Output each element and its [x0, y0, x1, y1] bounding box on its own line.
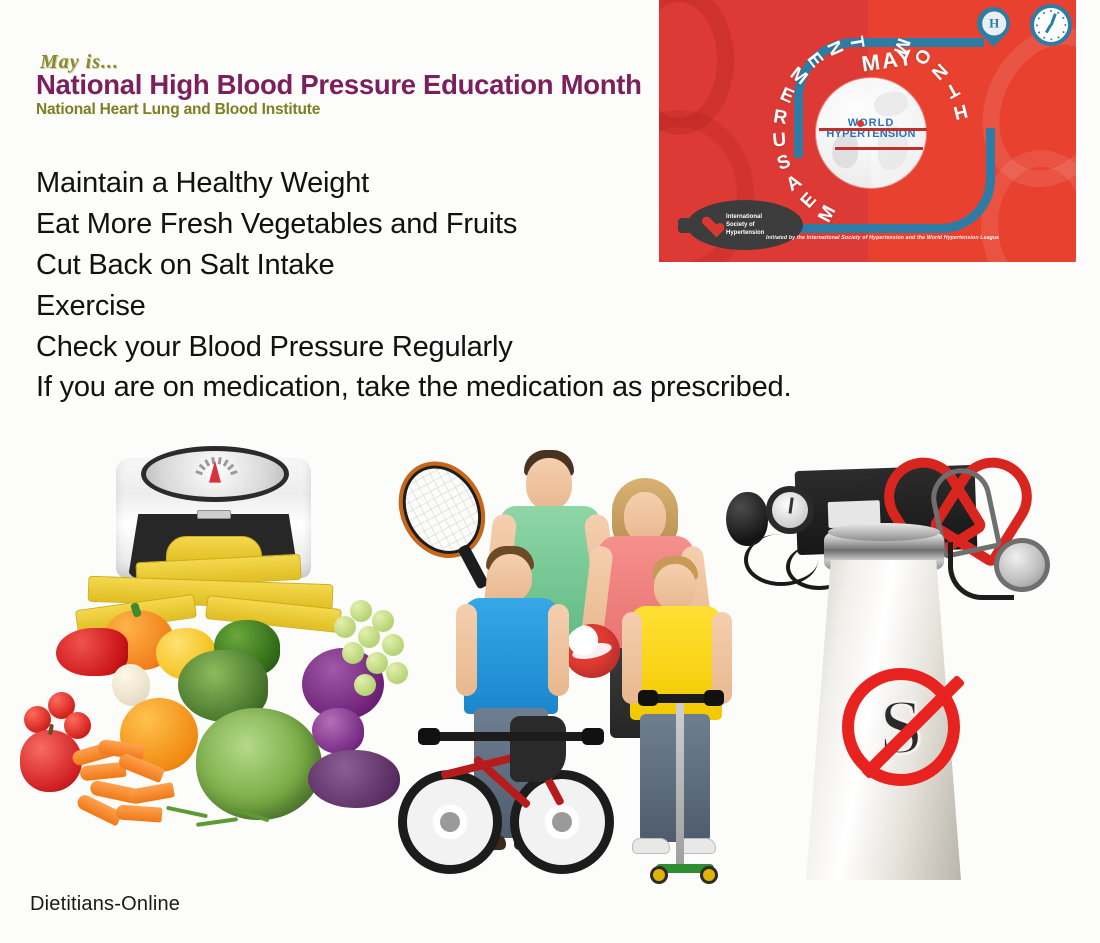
ish-line-1: International	[726, 213, 764, 221]
grape	[354, 674, 376, 696]
dial-tick	[230, 470, 238, 475]
clock-tick	[1056, 11, 1059, 14]
dial-tick	[195, 470, 203, 475]
arc-letter: U	[772, 129, 788, 152]
red-white-ball	[564, 624, 620, 678]
clock-tick	[1042, 35, 1045, 38]
bike-wheel	[510, 770, 614, 874]
face	[624, 492, 666, 542]
may-measurement-month-banner: H WORLD HYPERTENSION MAY MEASUREMENT MON…	[659, 0, 1076, 262]
scale-dial	[141, 446, 289, 502]
heart-icon	[701, 216, 720, 235]
dial-tick	[227, 464, 234, 471]
clock-minute-hand	[1045, 24, 1052, 33]
banner-tagline: Initiated by the International Society o…	[766, 235, 1066, 241]
ekg-line	[835, 147, 923, 150]
logo-dot-icon	[857, 120, 864, 127]
carrot	[127, 782, 175, 805]
logo-line-2: HYPERTENSION	[816, 129, 926, 140]
bike-wheel	[398, 770, 502, 874]
photo-collage: S	[0, 430, 1100, 910]
ish-logo-badge: International Society of Hypertension	[687, 200, 803, 250]
scale-and-produce-photo	[16, 450, 416, 890]
ish-line-2: Society of	[726, 221, 764, 229]
active-family-photo	[398, 438, 738, 900]
tip-item: Exercise	[36, 286, 936, 327]
green-stems	[166, 806, 286, 836]
scooter-grip	[638, 690, 658, 706]
bike-grip	[582, 728, 604, 745]
ish-line-3: Hypertension	[726, 229, 764, 237]
dial-tick	[199, 464, 206, 471]
tip-item: If you are on medication, take the medic…	[36, 367, 936, 408]
ish-logo-text: International Society of Hypertension	[726, 213, 764, 237]
ekg-line	[819, 128, 927, 131]
hospital-pin-label: H	[982, 12, 1006, 36]
bike-seat	[510, 716, 566, 782]
arc-letter: R	[772, 106, 789, 130]
footer-credit: Dietitians-Online	[30, 893, 180, 916]
savoy-cabbage	[196, 708, 322, 820]
scooter-wheel	[700, 866, 718, 884]
scooter-stem	[676, 702, 684, 872]
clock-hour-hand	[1050, 13, 1056, 25]
clock-tick	[1056, 35, 1059, 38]
scooter-wheel	[650, 866, 668, 884]
tip-item: Check your Blood Pressure Regularly	[36, 327, 936, 368]
pressure-gauge	[766, 486, 814, 534]
salt-and-bp-photo: S	[720, 440, 1080, 905]
clock-tick	[1037, 16, 1040, 19]
arc-letter: S	[775, 151, 794, 176]
face	[654, 564, 696, 610]
clock-tick	[1036, 24, 1038, 26]
dial-tick	[223, 459, 229, 467]
clock-tick	[1050, 38, 1052, 40]
clock-tick	[1050, 10, 1052, 12]
clock-tick	[1064, 24, 1066, 26]
gauge-needle	[789, 497, 794, 513]
grape	[350, 600, 372, 622]
clock-icon	[1030, 4, 1072, 46]
scale-needle	[209, 461, 221, 483]
scale-window	[197, 510, 231, 519]
face	[488, 554, 532, 602]
bicycle	[406, 674, 656, 884]
tomato	[24, 706, 51, 733]
globe-graphic: WORLD HYPERTENSION	[816, 78, 926, 188]
no-salt-sign: S	[842, 668, 960, 786]
stem	[196, 817, 238, 827]
kick-scooter	[642, 686, 728, 886]
clock-tick	[1037, 30, 1040, 33]
grape	[366, 652, 388, 674]
clock-tick	[1061, 16, 1064, 19]
carrot	[116, 804, 163, 822]
bike-handlebar	[428, 732, 596, 741]
nhlbi-header: May is... National High Blood Pressure E…	[36, 52, 636, 119]
face	[526, 458, 572, 510]
bike-grip	[418, 728, 440, 745]
organization-name: National Heart Lung and Blood Institute	[36, 101, 636, 119]
grape	[342, 642, 364, 664]
grape	[358, 626, 380, 648]
clock-tick	[1061, 30, 1064, 33]
clock-tick	[1042, 11, 1045, 14]
page-title: National High Blood Pressure Education M…	[36, 71, 636, 100]
purple-onion	[312, 708, 364, 754]
grape	[334, 616, 356, 638]
stethoscope-chestpiece	[994, 538, 1050, 592]
purple-lettuce	[308, 750, 400, 808]
